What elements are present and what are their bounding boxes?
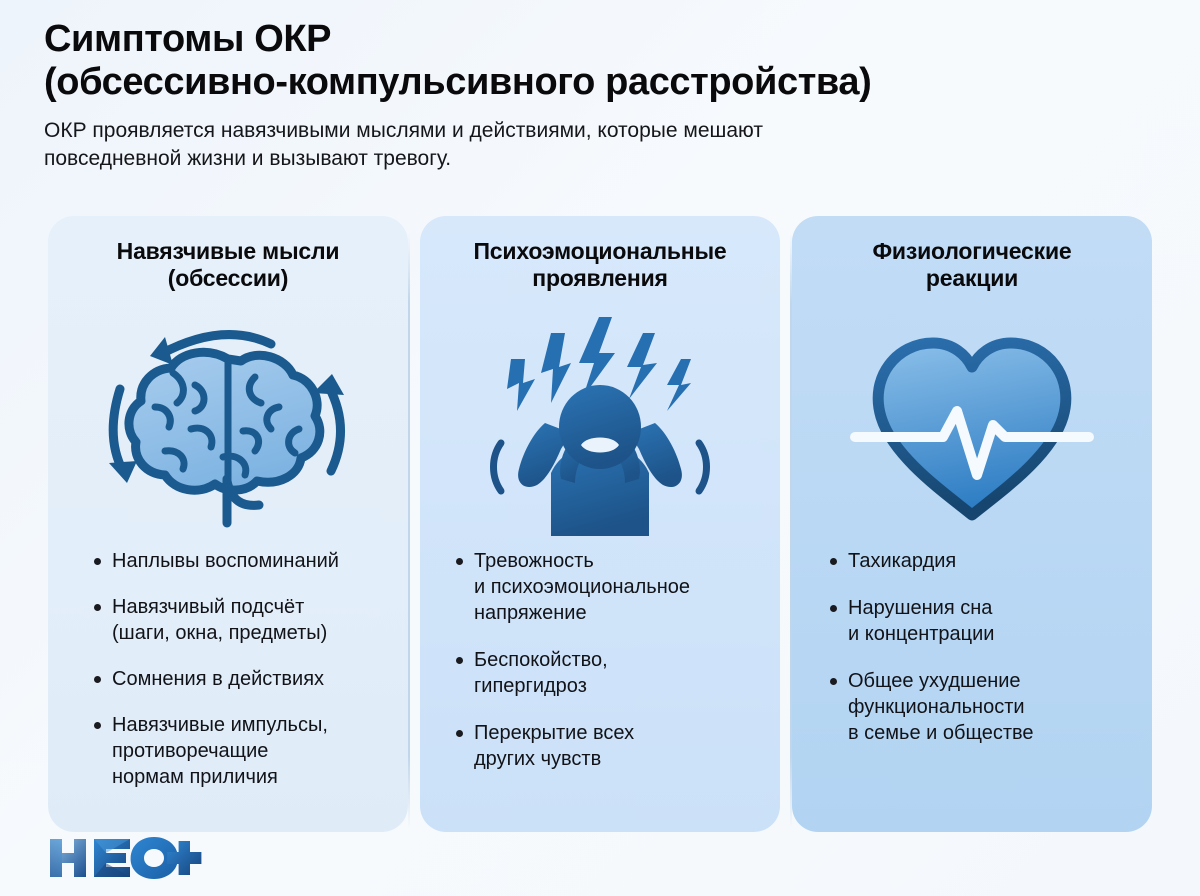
symptom-cards-row: Навязчивые мысли (обсессии) [48, 216, 1152, 832]
bullet-dot [94, 722, 101, 729]
card-title: Психоэмоциональные проявления [442, 238, 758, 294]
list-item-text: Наплывы воспоминаний [112, 550, 339, 572]
card-obsessive-thoughts: Навязчивые мысли (обсессии) [48, 216, 408, 832]
bullet-dot [830, 605, 837, 612]
list-item-text: Навязчивый подсчёт (шаги, окна, предметы… [112, 596, 327, 644]
list-item-text: Беспокойство, гипергидроз [474, 649, 608, 697]
list-item: Перекрытие всех других чувств [454, 720, 756, 772]
list-item-text: Сомнения в действиях [112, 668, 324, 690]
card-title: Навязчивые мысли (обсессии) [70, 238, 386, 294]
list-item: Тревожность и психоэмоциональное напряже… [454, 548, 756, 626]
list-item: Навязчивые импульсы, противоречащие норм… [92, 712, 384, 790]
stressed-person-icon [442, 298, 758, 548]
brain-cycle-icon [70, 298, 386, 548]
list-item-text: Навязчивые импульсы, противоречащие норм… [112, 714, 328, 788]
bullet-dot [456, 558, 463, 565]
header: Симптомы ОКР (обсессивно-компульсивного … [44, 18, 1164, 173]
card-physiological: Физиологические реакции [792, 216, 1152, 832]
heart-pulse-icon [814, 298, 1130, 548]
list-item: Наплывы воспоминаний [92, 548, 384, 574]
list-item: Сомнения в действиях [92, 666, 384, 692]
bullet-list: Тахикардия Нарушения сна и концентрации … [814, 548, 1130, 814]
bullet-list: Тревожность и психоэмоциональное напряже… [442, 548, 758, 814]
bullet-dot [94, 604, 101, 611]
list-item-text: Нарушения сна и концентрации [848, 597, 994, 645]
list-item: Беспокойство, гипергидроз [454, 647, 756, 699]
list-item-text: Тревожность и психоэмоциональное напряже… [474, 550, 690, 624]
card-title: Физиологические реакции [814, 238, 1130, 294]
bullet-dot [94, 676, 101, 683]
bullet-dot [456, 730, 463, 737]
page-title: Симптомы ОКР (обсессивно-компульсивного … [44, 18, 1164, 103]
infographic-page: Симптомы ОКР (обсессивно-компульсивного … [0, 0, 1200, 896]
list-item: Тахикардия [828, 548, 1128, 574]
list-item-text: Общее ухудшение функциональности в семье… [848, 670, 1034, 744]
list-item: Общее ухудшение функциональности в семье… [828, 668, 1128, 746]
neo-plus-logo [46, 836, 206, 880]
bullet-dot [94, 558, 101, 565]
list-item-text: Перекрытие всех других чувств [474, 722, 634, 770]
bullet-dot [456, 657, 463, 664]
list-item-text: Тахикардия [848, 550, 956, 572]
card-psychoemotional: Психоэмоциональные проявления [420, 216, 780, 832]
card-divider [408, 232, 410, 828]
bullet-dot [830, 678, 837, 685]
bullet-dot [830, 558, 837, 565]
bullet-list: Наплывы воспоминаний Навязчивый подсчёт … [70, 548, 386, 814]
page-subtitle: ОКР проявляется навязчивыми мыслями и де… [44, 117, 1074, 173]
list-item: Нарушения сна и концентрации [828, 595, 1128, 647]
card-divider [790, 232, 792, 828]
list-item: Навязчивый подсчёт (шаги, окна, предметы… [92, 594, 384, 646]
